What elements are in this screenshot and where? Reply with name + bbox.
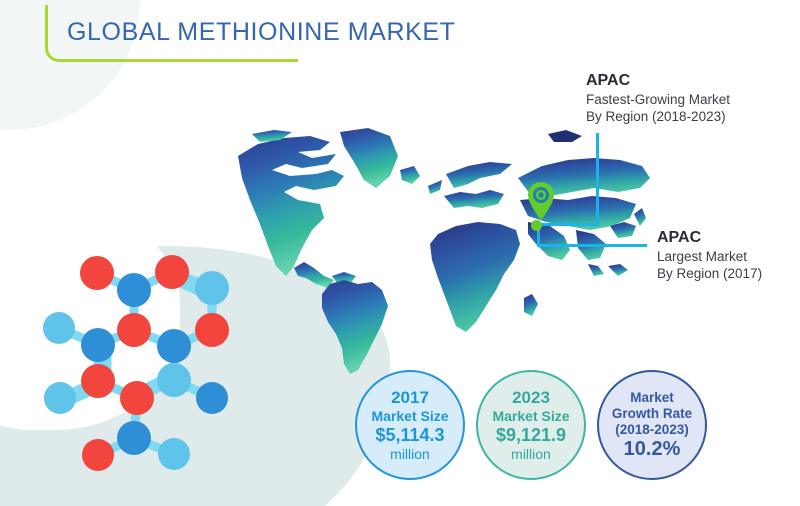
stat-growth-line2: Growth Rate bbox=[612, 406, 692, 422]
stat-2023-unit: million bbox=[511, 446, 551, 463]
map-pin-anchor-dot bbox=[531, 220, 542, 231]
callout-fastest-growing-line2: By Region (2018-2023) bbox=[586, 108, 730, 125]
stat-2017-value: $5,114.3 bbox=[375, 425, 444, 446]
map-pin-icon bbox=[528, 182, 554, 220]
stat-2023-market-size: 2023 Market Size $9,121.9 million bbox=[476, 370, 586, 480]
header: GLOBAL METHIONINE MARKET bbox=[45, 5, 465, 65]
stat-growth-line3: (2018-2023) bbox=[615, 422, 689, 438]
stat-2017-label: Market Size bbox=[371, 408, 448, 425]
stat-2023-value: $9,121.9 bbox=[496, 425, 566, 446]
stat-2017-market-size: 2017 Market Size $5,114.3 million bbox=[355, 370, 465, 480]
molecule-atoms bbox=[43, 255, 229, 471]
callout-largest-market-line1: Largest Market bbox=[657, 248, 762, 265]
stat-2017-unit: million bbox=[390, 446, 430, 463]
stat-growth-value: 10.2% bbox=[624, 438, 681, 461]
stat-2017-year: 2017 bbox=[391, 388, 429, 408]
callout-fastest-growing-line1: Fastest-Growing Market bbox=[586, 91, 730, 108]
leader-line-vertical-top bbox=[596, 133, 599, 226]
stat-2023-label: Market Size bbox=[492, 408, 569, 425]
stat-market-growth-rate: Market Growth Rate (2018-2023) 10.2% bbox=[597, 370, 707, 480]
callout-largest-market-line2: By Region (2017) bbox=[657, 265, 762, 282]
world-map-svg bbox=[232, 126, 652, 376]
stat-2023-year: 2023 bbox=[512, 388, 550, 408]
stat-growth-line1: Market bbox=[630, 390, 674, 406]
map-pin-svg bbox=[528, 182, 554, 220]
infographic-canvas: GLOBAL METHIONINE MARKET bbox=[0, 0, 800, 506]
callout-fastest-growing: APAC Fastest-Growing Market By Region (2… bbox=[586, 71, 730, 125]
leader-line-horizontal-top bbox=[537, 223, 599, 226]
callout-largest-market-title: APAC bbox=[657, 228, 762, 248]
callout-fastest-growing-title: APAC bbox=[586, 71, 730, 91]
world-map bbox=[232, 126, 652, 376]
leader-line-horizontal-bottom bbox=[537, 244, 647, 247]
page-title: GLOBAL METHIONINE MARKET bbox=[67, 18, 456, 47]
callout-largest-market: APAC Largest Market By Region (2017) bbox=[657, 228, 762, 282]
